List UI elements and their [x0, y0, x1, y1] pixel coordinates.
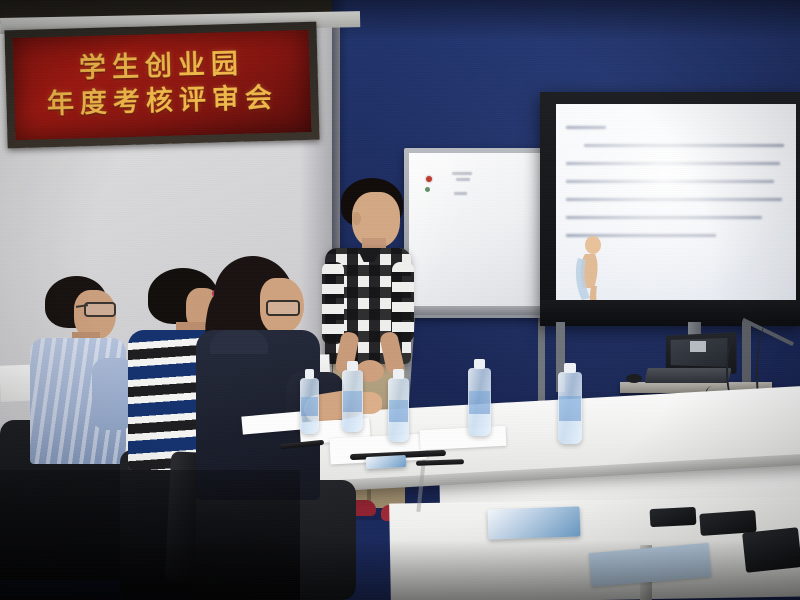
- car-keys: [650, 507, 697, 527]
- banner-line-2: 年度考核评审会: [47, 82, 279, 123]
- whiteboard-tray: [404, 306, 552, 315]
- navy-wall-top-shadow: [332, 0, 800, 40]
- bottle-label: [469, 391, 490, 414]
- presenter-ear: [352, 212, 361, 225]
- mouse: [626, 374, 642, 383]
- water-bottle: [300, 378, 319, 434]
- glasses-icon: [84, 302, 116, 317]
- water-bottle: [558, 372, 582, 444]
- bottle-cap: [564, 363, 576, 373]
- laptop-keyboard-base: [644, 368, 731, 383]
- water-bottle: [468, 368, 491, 436]
- slide-human-figure-illustration: [574, 236, 608, 310]
- laptop-screen-glare: [690, 341, 706, 352]
- glasses-icon: [266, 300, 300, 316]
- bottle-label: [301, 397, 318, 416]
- bottle-label: [559, 396, 581, 420]
- presenter-arm-right: [392, 262, 414, 342]
- judge-right-shoulder: [210, 330, 268, 354]
- project-booklet: [366, 455, 407, 469]
- bottle-cap: [474, 359, 486, 369]
- meeting-room-photo: 学生创业园 年度考核评审会: [0, 0, 800, 600]
- whiteboard-magnet-green: [425, 187, 430, 192]
- water-bottle: [342, 370, 363, 432]
- water-bottle: [388, 378, 409, 442]
- presenter-arm-left: [322, 262, 344, 344]
- wall-banner: 学生创业园 年度考核评审会: [13, 30, 312, 140]
- project-booklet: [488, 506, 581, 539]
- bottle-label: [389, 400, 408, 422]
- bottle-cap: [347, 361, 358, 371]
- bottle-label: [343, 391, 362, 412]
- banner-line-1: 学生创业园: [79, 48, 245, 87]
- bottle-cap: [393, 369, 404, 379]
- bottom-shadow: [0, 540, 800, 600]
- projection-screen-bottom-frame: [540, 300, 800, 326]
- whiteboard-magnet-red: [426, 176, 432, 182]
- bottle-cap: [305, 369, 315, 379]
